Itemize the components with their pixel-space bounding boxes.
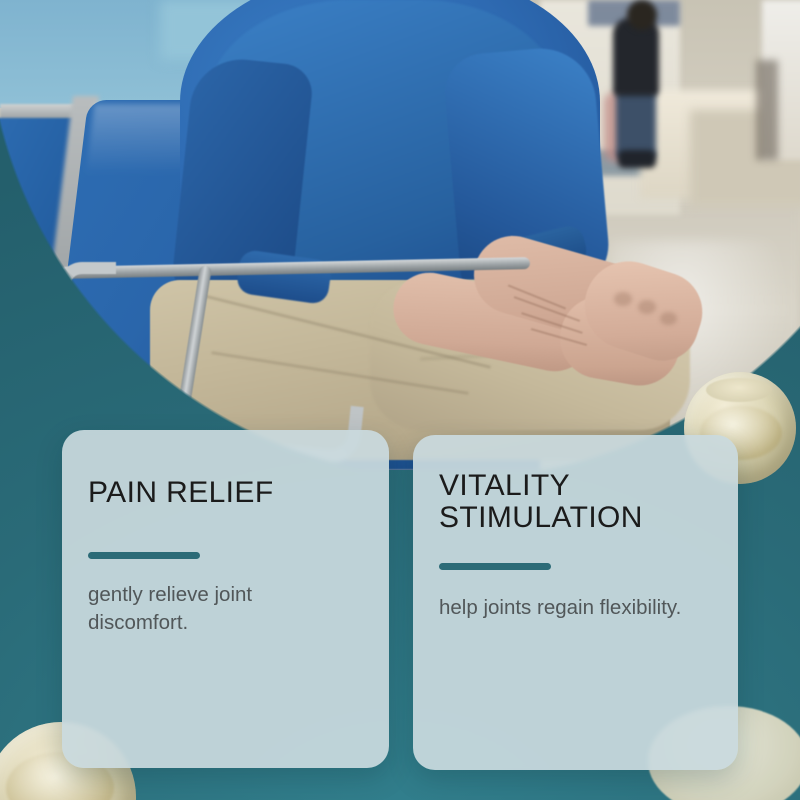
background-person-torso (613, 18, 659, 96)
poster-canvas: PAIN RELIEF gently relieve joint discomf… (0, 0, 800, 800)
feature-card-content: VITALITY STIMULATION help joints regain … (413, 435, 738, 770)
knuckle-detail (660, 312, 677, 325)
feature-card-body: help joints regain flexibility. (439, 570, 699, 622)
background-person-right-shadow (756, 60, 778, 160)
feature-card-divider (88, 552, 200, 559)
feature-card-vitality-stimulation[interactable]: VITALITY STIMULATION help joints regain … (413, 435, 738, 770)
background-person-shoes (618, 150, 656, 168)
feature-card-divider (439, 563, 551, 570)
knuckle-detail (638, 300, 656, 314)
hero-photo-scene (0, 0, 800, 470)
background-person-head (627, 0, 657, 30)
feature-card-title: PAIN RELIEF (88, 430, 363, 509)
feature-card-content: PAIN RELIEF gently relieve joint discomf… (62, 430, 389, 768)
feature-card-title: VITALITY STIMULATION (439, 435, 712, 535)
feature-card-body: gently relieve joint discomfort. (88, 559, 348, 637)
chair-armrest-curve (58, 262, 116, 320)
cream-jar-right-lip (706, 378, 772, 402)
feature-card-pain-relief[interactable]: PAIN RELIEF gently relieve joint discomf… (62, 430, 389, 768)
knuckle-detail (614, 292, 632, 306)
hero-photo (0, 0, 800, 470)
